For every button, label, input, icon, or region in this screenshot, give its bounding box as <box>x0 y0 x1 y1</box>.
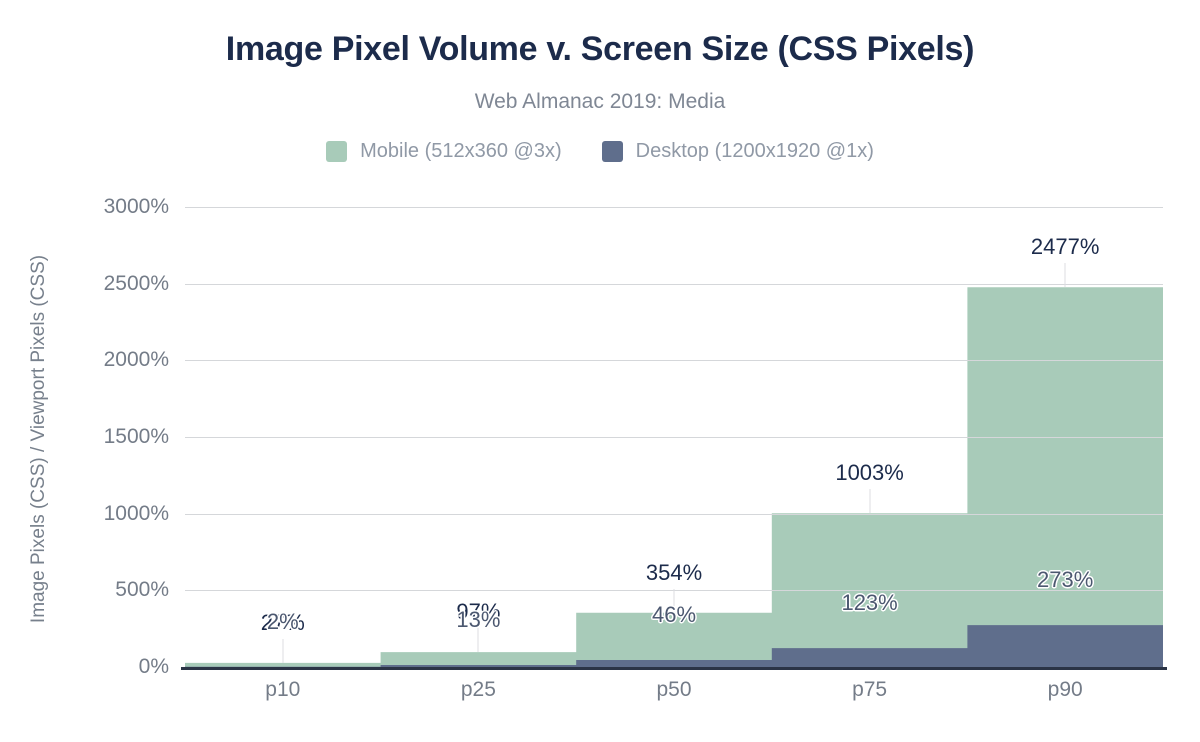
data-label-desktop: 123% <box>841 590 897 616</box>
data-label-desktop: 273% <box>1037 567 1093 593</box>
data-label-mobile: 354% <box>646 560 702 586</box>
data-label-mobile: 97% <box>456 599 500 625</box>
label-leader-line <box>674 589 675 613</box>
data-label-desktop: 2% <box>267 609 299 635</box>
label-leader-line <box>869 489 870 513</box>
data-label-mobile: 27% <box>261 610 305 636</box>
label-leader-line <box>282 639 283 663</box>
data-label-mobile: 2477% <box>1031 234 1100 260</box>
data-label-layer: 27%97%354%1003%2477%2%13%46%123%273% <box>0 0 1200 742</box>
label-leader-line <box>1065 263 1066 287</box>
chart-container: Image Pixel Volume v. Screen Size (CSS P… <box>0 0 1200 742</box>
data-label-mobile: 1003% <box>835 460 904 486</box>
label-leader-line <box>478 628 479 652</box>
